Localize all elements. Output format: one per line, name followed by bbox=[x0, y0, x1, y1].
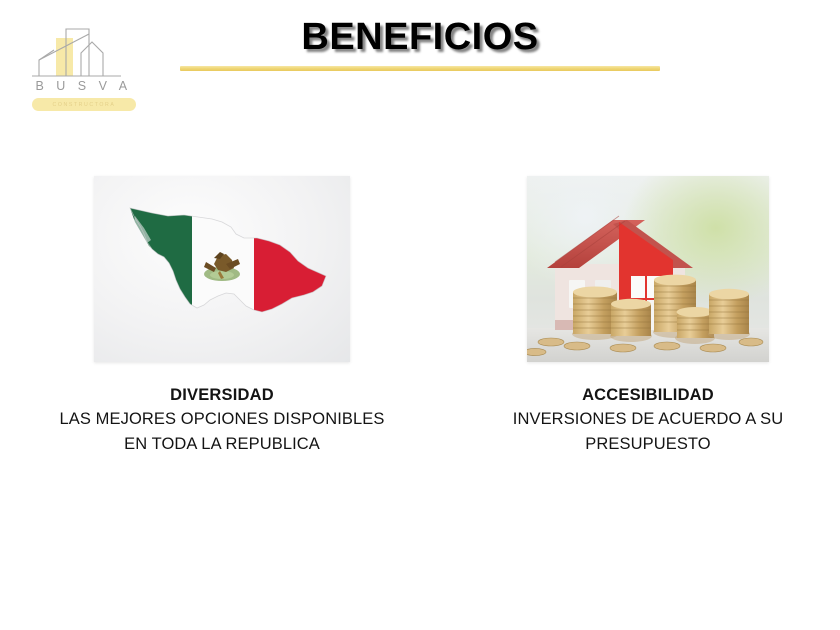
caption-line-2: EN TODA LA REPUBLICA bbox=[22, 433, 422, 456]
title-underline-rule bbox=[180, 66, 660, 71]
mexico-map-image bbox=[94, 176, 350, 362]
house-coins-image bbox=[527, 176, 769, 362]
benefit-column-accesibilidad: ACCESIBILIDAD INVERSIONES DE ACUERDO A S… bbox=[448, 176, 840, 456]
page-title: BENEFICIOS bbox=[180, 16, 660, 59]
logo-tagline: CONSTRUCTORA bbox=[53, 102, 116, 108]
logo-tagline-pill: CONSTRUCTORA bbox=[32, 98, 136, 111]
logo-wordmark: B U S V A bbox=[26, 79, 141, 93]
company-logo: B U S V A CONSTRUCTORA bbox=[26, 24, 141, 120]
logo-buildings-icon bbox=[26, 24, 141, 82]
caption-line-1: LAS MEJORES OPCIONES DISPONIBLES bbox=[22, 408, 422, 431]
benefit-caption-diversidad: DIVERSIDAD LAS MEJORES OPCIONES DISPONIB… bbox=[22, 384, 422, 456]
caption-title: ACCESIBILIDAD bbox=[448, 384, 840, 407]
slide-canvas: B U S V A CONSTRUCTORA BENEFICIOS bbox=[0, 0, 840, 630]
caption-line-1: INVERSIONES DE ACUERDO A SU bbox=[448, 408, 840, 431]
benefit-column-diversidad: DIVERSIDAD LAS MEJORES OPCIONES DISPONIB… bbox=[22, 176, 422, 456]
caption-title: DIVERSIDAD bbox=[22, 384, 422, 407]
benefit-caption-accesibilidad: ACCESIBILIDAD INVERSIONES DE ACUERDO A S… bbox=[448, 384, 840, 456]
caption-line-2: PRESUPUESTO bbox=[448, 433, 840, 456]
